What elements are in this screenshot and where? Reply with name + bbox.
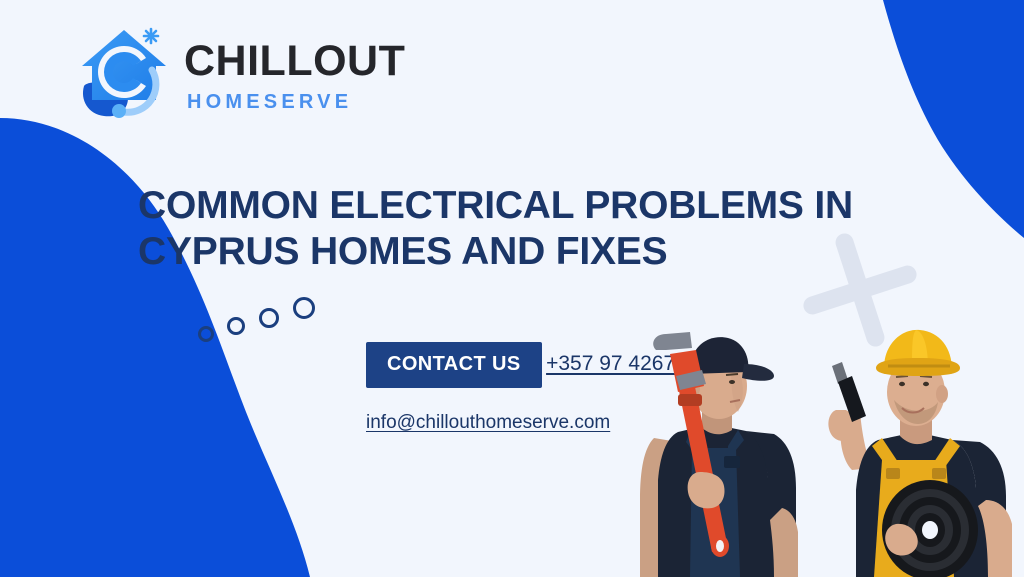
email-link[interactable]: info@chillouthomeserve.com <box>366 412 610 434</box>
ring-decoration-2 <box>227 317 245 335</box>
workers-photo <box>620 320 1024 577</box>
ring-decoration-1 <box>198 326 214 342</box>
brand-logo[interactable]: CHILLOUT HOMESERVE <box>78 26 405 122</box>
page-title-line-2: CYPRUS HOMES AND FIXES <box>138 229 898 275</box>
contact-us-button[interactable]: CONTACT US <box>366 342 542 388</box>
brand-wordmark: CHILLOUT HOMESERVE <box>184 36 405 112</box>
brand-name: CHILLOUT <box>184 40 405 83</box>
electrician-with-screwdriver <box>828 330 1012 577</box>
page-title: COMMON ELECTRICAL PROBLEMS IN CYPRUS HOM… <box>138 183 898 274</box>
plumber-with-pipe-wrench <box>640 332 798 577</box>
brand-tagline: HOMESERVE <box>187 92 405 112</box>
ring-decoration-3 <box>259 308 279 328</box>
ring-decoration-4 <box>293 297 315 319</box>
house-c-snowflake-logo-icon <box>78 26 170 122</box>
ring-decoration-group <box>198 296 328 346</box>
promo-banner: CHILLOUT HOMESERVE COMMON ELECTRICAL PRO… <box>0 0 1024 577</box>
page-title-line-1: COMMON ELECTRICAL PROBLEMS IN <box>138 183 898 229</box>
